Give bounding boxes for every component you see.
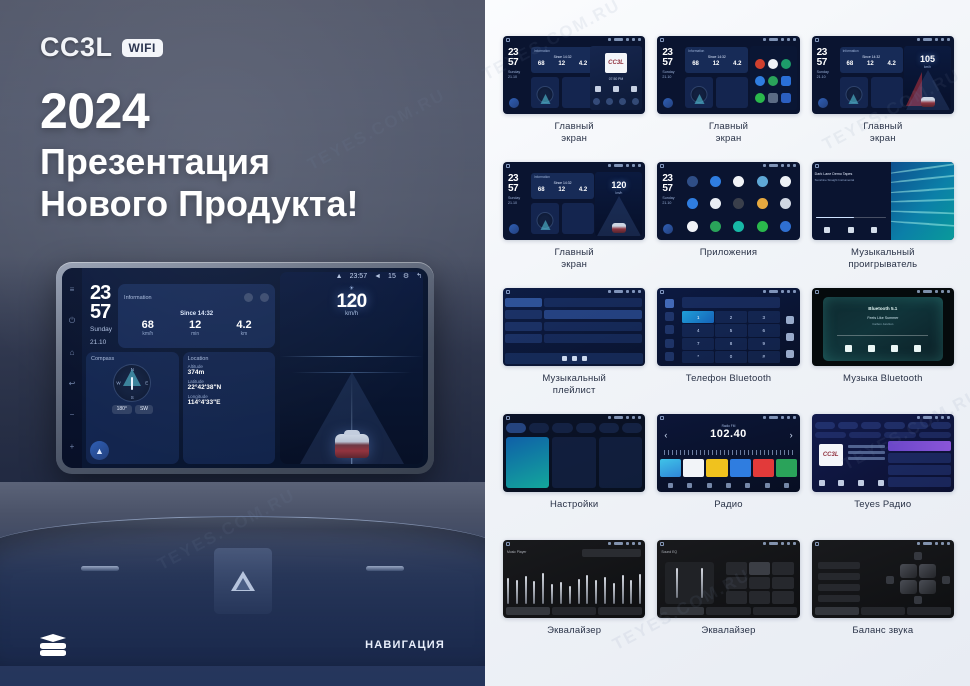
back-icon[interactable]: ↰ bbox=[416, 272, 422, 280]
playback-controls[interactable] bbox=[816, 227, 886, 233]
preset-2 bbox=[683, 459, 704, 477]
teyes-radio-tabs[interactable] bbox=[815, 422, 951, 429]
gallery-caption: Эквалайзер bbox=[701, 625, 755, 637]
equalizer-preset-label: Music Player bbox=[507, 550, 526, 554]
mini-speed-value: 120 bbox=[595, 180, 642, 190]
gallery-caption: Главныйэкран bbox=[555, 121, 594, 145]
track-info: Dark Lane Demo Tapes Sunshine Straight I… bbox=[815, 172, 889, 182]
equalizer-presets[interactable] bbox=[726, 562, 794, 604]
radio-presets[interactable] bbox=[660, 459, 796, 477]
tab-balance bbox=[552, 607, 596, 615]
gallery-caption: Главныйэкран bbox=[555, 247, 594, 271]
gallery-caption: Радио bbox=[714, 499, 742, 511]
app-icon-phone bbox=[768, 76, 778, 86]
card-wifi bbox=[506, 437, 549, 488]
thumbnail-equalizer-simple[interactable]: Sound EQ bbox=[657, 540, 799, 618]
app-icon-radio bbox=[780, 221, 791, 232]
thumb-status-bar bbox=[812, 540, 954, 547]
tab-sound bbox=[753, 607, 797, 615]
mini-info-since: Since 14:32 bbox=[685, 55, 748, 59]
gallery-caption: Телефон Bluetooth bbox=[686, 373, 772, 385]
app-icon-gallery bbox=[780, 198, 791, 209]
thumbnail-bluetooth-phone[interactable]: 1 2 3 4 5 6 7 8 9 * 0 # bbox=[657, 288, 799, 366]
backspace-icon bbox=[786, 333, 794, 341]
hero-panel: ≡ ⏻ ⌂ ↩ − + ▲ 23:57 ◄ 15 ⚙ bbox=[0, 0, 485, 686]
thumbnail-playlist[interactable] bbox=[503, 288, 645, 366]
tab-sound bbox=[907, 607, 951, 615]
app-icon-play bbox=[755, 93, 765, 103]
station-meta bbox=[848, 445, 885, 463]
gallery-caption: Настройки bbox=[550, 499, 598, 511]
mini-info-stats: 68124.2 bbox=[531, 187, 594, 193]
bluetooth-progress[interactable] bbox=[837, 335, 928, 336]
mini-compass bbox=[685, 77, 713, 108]
teyes-radio-filters[interactable] bbox=[815, 432, 951, 438]
app-icon-google bbox=[687, 221, 698, 232]
radio-tuning-scale[interactable] bbox=[664, 450, 792, 455]
mini-clock-day: Sunday21.10 bbox=[662, 70, 674, 79]
dial-key[interactable]: * bbox=[682, 351, 714, 363]
mini-nav-fab bbox=[818, 98, 828, 108]
dial-key[interactable]: 4 bbox=[682, 324, 714, 336]
speaker-rear-right bbox=[919, 580, 936, 594]
thumbnail-music-player[interactable]: Dark Lane Demo Tapes Sunshine Straight I… bbox=[812, 162, 954, 240]
teyes-playback-controls[interactable] bbox=[819, 480, 884, 486]
gallery-item[interactable]: 2357 Sunday21.10 Information Since 14:32… bbox=[657, 36, 799, 156]
tab-eq bbox=[815, 607, 859, 615]
mini-clock-day: Sunday21.10 bbox=[662, 196, 674, 205]
thumb-status-bar bbox=[503, 36, 645, 43]
tab-sound bbox=[529, 423, 549, 433]
preset-5 bbox=[753, 459, 774, 477]
mini-car bbox=[921, 97, 935, 107]
mini-compass bbox=[531, 203, 559, 234]
mini-info-title: Information bbox=[843, 49, 859, 53]
mini-clock-day: Sunday21.10 bbox=[508, 196, 520, 205]
prev-station-icon[interactable]: ‹ bbox=[664, 430, 667, 440]
thumb-status-bar bbox=[657, 162, 799, 169]
mini-app-shortcuts bbox=[750, 46, 797, 110]
bluetooth-track: Feels Like Summer bbox=[823, 316, 943, 320]
wifi-badge: WIFI bbox=[122, 39, 163, 57]
dial-key[interactable]: 0 bbox=[715, 351, 747, 363]
album-art: CC3L bbox=[605, 53, 627, 73]
search-icon bbox=[665, 325, 674, 334]
mini-driving-view: 120 km/h bbox=[595, 172, 642, 236]
gallery-item[interactable]: Music Player Эквалайзер bbox=[503, 540, 645, 660]
mini-info-stats: 68124.2 bbox=[840, 61, 903, 67]
headline-line-2: Нового Продукта! bbox=[40, 183, 460, 225]
app-icon-settings bbox=[781, 76, 791, 86]
thumb-status-bar bbox=[657, 540, 799, 547]
settings-cards[interactable] bbox=[506, 437, 642, 488]
hero-footer: НАВИГАЦИЯ bbox=[40, 634, 445, 656]
app-icon-more bbox=[781, 93, 791, 103]
settings-icon bbox=[665, 352, 674, 361]
headline-line-1: Презентация bbox=[40, 141, 460, 183]
hero-footer-label: НАВИГАЦИЯ bbox=[365, 639, 445, 651]
gallery-caption: Приложения bbox=[700, 247, 758, 259]
mini-compass bbox=[531, 77, 559, 108]
tab-eq bbox=[506, 607, 550, 615]
equalizer-preset-pill[interactable] bbox=[582, 549, 641, 557]
gallery-item[interactable]: 2357 Sunday21.10 Information Since 14:32… bbox=[503, 36, 645, 156]
app-icon-contacts bbox=[710, 198, 721, 209]
status-time: 23:57 bbox=[350, 273, 368, 280]
tab-sound bbox=[598, 607, 642, 615]
mini-info-title: Information bbox=[534, 49, 550, 53]
play-pause-icon bbox=[868, 345, 875, 352]
mini-information-card: Information Since 14:32 68124.2 bbox=[531, 47, 594, 73]
balance-tabs[interactable] bbox=[815, 607, 951, 615]
call-log-icon bbox=[665, 339, 674, 348]
mini-location bbox=[562, 203, 594, 234]
dialpad-icon bbox=[665, 299, 674, 308]
app-icon-maps bbox=[781, 59, 791, 69]
tab-more bbox=[622, 423, 642, 433]
mini-nav-fab bbox=[509, 98, 519, 108]
bluetooth-now-playing-card: Bluetooth 5.1 Feels Like Summer Carbon J… bbox=[823, 297, 943, 361]
tab-display bbox=[552, 423, 572, 433]
playlist-player-bar[interactable] bbox=[505, 353, 643, 364]
gallery-caption: Эквалайзер bbox=[547, 625, 601, 637]
thumbnail-home-speed[interactable]: 2357 Sunday21.10 Information Since 14:32… bbox=[503, 162, 645, 240]
thumb-status-bar bbox=[503, 288, 645, 295]
gallery-item[interactable]: 1 2 3 4 5 6 7 8 9 * 0 # bbox=[657, 288, 799, 408]
app-grid bbox=[681, 171, 796, 237]
thumb-status-bar bbox=[657, 288, 799, 295]
media-time: 07:50 PM bbox=[590, 77, 643, 81]
mini-info-since: Since 14:32 bbox=[531, 181, 594, 185]
layers-icon bbox=[40, 634, 66, 656]
status-volume: 15 bbox=[388, 273, 396, 280]
mini-nav-fab bbox=[509, 224, 519, 234]
mini-info-title: Information bbox=[688, 49, 704, 53]
phone-nav-rail[interactable] bbox=[659, 297, 679, 363]
balance-right-icon[interactable] bbox=[942, 576, 950, 584]
mini-clock: 2357 bbox=[508, 174, 518, 193]
mini-location bbox=[716, 77, 748, 108]
mini-clock: 2357 bbox=[662, 174, 672, 193]
thumbnail-home-apps[interactable]: 2357 Sunday21.10 Information Since 14:32… bbox=[657, 36, 799, 114]
settings-tabs[interactable] bbox=[506, 423, 642, 433]
mini-info-since: Since 14:32 bbox=[840, 55, 903, 59]
app-icon-play-store bbox=[757, 221, 768, 232]
mini-info-title: Information bbox=[534, 175, 550, 179]
tab-about bbox=[599, 423, 619, 433]
gallery-item[interactable]: Настройки bbox=[503, 414, 645, 534]
mini-driving-view: 105 km/h bbox=[904, 46, 951, 110]
media-extra-controls bbox=[590, 98, 643, 105]
bluetooth-controls[interactable] bbox=[845, 345, 922, 352]
equalizer-tabs[interactable] bbox=[660, 607, 796, 615]
thumb-status-bar bbox=[503, 162, 645, 169]
preset-3 bbox=[706, 459, 727, 477]
dial-key[interactable]: 8 bbox=[715, 338, 747, 350]
app-icon-music bbox=[755, 76, 765, 86]
tab-eq bbox=[660, 607, 704, 615]
mini-speed-unit: km/h bbox=[904, 65, 951, 69]
card-carplay bbox=[552, 437, 595, 488]
thumbnail-teyes-radio[interactable]: CC3L bbox=[812, 414, 954, 492]
dial-key[interactable]: 5 bbox=[715, 324, 747, 336]
contacts-icon bbox=[665, 312, 674, 321]
bluetooth-title: Bluetooth 5.1 bbox=[823, 306, 943, 311]
thumbnail-radio[interactable]: Radio FM 102.40 ‹ › bbox=[657, 414, 799, 492]
dial-key[interactable]: 7 bbox=[682, 338, 714, 350]
dial-key[interactable]: # bbox=[748, 351, 780, 363]
call-icon bbox=[786, 350, 794, 358]
equalizer-title: Sound EQ bbox=[661, 550, 677, 554]
mini-speed-unit: km/h bbox=[595, 191, 642, 195]
thumb-status-bar bbox=[657, 414, 799, 421]
app-icon-bluetooth bbox=[710, 176, 721, 187]
mini-media-card: CC3L 07:50 PM bbox=[590, 46, 643, 110]
app-icon-radio bbox=[755, 59, 765, 69]
dial-key[interactable]: 2 bbox=[715, 311, 747, 323]
thumb-status-bar bbox=[812, 288, 954, 295]
gallery-caption: Главныйэкран bbox=[709, 121, 748, 145]
station-list[interactable] bbox=[888, 441, 951, 489]
mini-clock: 2357 bbox=[817, 48, 827, 67]
thumbnail-home-media[interactable]: 2357 Sunday21.10 Information Since 14:32… bbox=[503, 36, 645, 114]
station-art: CC3L bbox=[819, 444, 843, 466]
thumb-status-bar bbox=[812, 36, 954, 43]
mini-clock: 2357 bbox=[662, 48, 672, 67]
preset-4 bbox=[730, 459, 751, 477]
equalizer-faders[interactable] bbox=[665, 562, 713, 604]
balance-up-icon[interactable] bbox=[914, 552, 922, 560]
dial-key[interactable]: 9 bbox=[748, 338, 780, 350]
tab-balance bbox=[861, 607, 905, 615]
mini-clock: 2357 bbox=[508, 48, 518, 67]
prev-icon bbox=[845, 345, 852, 352]
headline-year: 2024 bbox=[40, 86, 460, 137]
thumbnail-bluetooth-music[interactable]: Bluetooth 5.1 Feels Like Summer Carbon J… bbox=[812, 288, 954, 366]
gallery-item[interactable]: Музыкальныйплейлист bbox=[503, 288, 645, 408]
tab-system bbox=[576, 423, 596, 433]
stop-icon bbox=[891, 345, 898, 352]
mini-clock-day: Sunday21.10 bbox=[508, 70, 520, 79]
app-icon-music-player bbox=[733, 221, 744, 232]
gallery-caption: Баланс звука bbox=[852, 625, 913, 637]
app-icon-chrome bbox=[687, 198, 698, 209]
phone-actions[interactable] bbox=[783, 311, 798, 363]
gallery-caption: Teyes Радио bbox=[854, 499, 911, 511]
media-controls bbox=[590, 86, 643, 92]
tab-wifi bbox=[506, 423, 526, 433]
thumb-status-bar bbox=[503, 414, 645, 421]
mini-nav-fab bbox=[663, 98, 673, 108]
presentation-page: ≡ ⏻ ⌂ ↩ − + ▲ 23:57 ◄ 15 ⚙ bbox=[0, 0, 970, 686]
app-icon-files bbox=[757, 198, 768, 209]
speaker-grid[interactable] bbox=[900, 564, 936, 594]
app-icon-link bbox=[687, 176, 698, 187]
next-icon bbox=[914, 345, 921, 352]
radio-readout: Radio FM 102.40 bbox=[657, 424, 799, 440]
thumb-status-bar bbox=[812, 414, 954, 421]
gallery-item[interactable]: 2357 Sunday21.10 Information Since 14:32… bbox=[812, 36, 954, 156]
mini-info-stats: 68124.2 bbox=[531, 61, 594, 67]
app-icon-browser bbox=[768, 59, 778, 69]
gear-icon[interactable]: ⚙ bbox=[403, 272, 409, 280]
app-icon-grid bbox=[768, 93, 778, 103]
app-icon-dvr bbox=[733, 198, 744, 209]
app-icon-bluetooth-music bbox=[733, 176, 744, 187]
mini-back-fab bbox=[663, 224, 673, 234]
gallery-item[interactable]: Bluetooth 5.1 Feels Like Summer Carbon J… bbox=[812, 288, 954, 408]
wifi-icon: ▲ bbox=[336, 273, 343, 280]
favourite-icon bbox=[786, 316, 794, 324]
dial-key[interactable]: 6 bbox=[748, 324, 780, 336]
mini-compass bbox=[840, 77, 868, 108]
equalizer-header: Sound EQ bbox=[661, 549, 795, 557]
dial-key[interactable]: 3 bbox=[748, 311, 780, 323]
gallery-item[interactable]: Баланс звука bbox=[812, 540, 954, 660]
track-title: Dark Lane Demo Tapes bbox=[815, 172, 889, 176]
dial-number-field[interactable] bbox=[682, 297, 779, 308]
next-station-icon[interactable]: › bbox=[790, 430, 793, 440]
equalizer-tabs[interactable] bbox=[506, 607, 642, 615]
app-icon-maps bbox=[710, 221, 721, 232]
gallery-item[interactable]: Dark Lane Demo Tapes Sunshine Straight I… bbox=[812, 162, 954, 282]
app-icon-camera bbox=[780, 176, 791, 187]
status-bar: ▲ 23:57 ◄ 15 ⚙ ↰ bbox=[336, 272, 422, 280]
gallery-item[interactable]: 2357 Sunday21.10 bbox=[657, 162, 799, 282]
track-artist: Sunshine Straight Instrumental bbox=[815, 178, 889, 182]
gallery-caption: Музыкальныйпроигрыватель bbox=[848, 247, 917, 271]
balance-left-icon[interactable] bbox=[886, 576, 894, 584]
card-more bbox=[599, 437, 642, 488]
equalizer-header[interactable]: Music Player bbox=[507, 549, 641, 557]
thumbnail-settings[interactable] bbox=[503, 414, 645, 492]
mini-info-stats: 68124.2 bbox=[685, 61, 748, 67]
gallery-item[interactable]: CC3L Teyes Радио bbox=[812, 414, 954, 534]
playlist-tracks[interactable] bbox=[544, 298, 642, 352]
product-logo: CC3L WIFI bbox=[40, 32, 163, 63]
thumbnail-home-drive[interactable]: 2357 Sunday21.10 Information Since 14:32… bbox=[812, 36, 954, 114]
gallery-item[interactable]: 2357 Sunday21.10 Information Since 14:32… bbox=[503, 162, 645, 282]
dial-key[interactable]: 1 bbox=[682, 311, 714, 323]
preset-6 bbox=[776, 459, 797, 477]
speaker-front-left bbox=[900, 564, 917, 578]
visualizer-panel bbox=[891, 162, 954, 240]
gallery-caption: Главныйэкран bbox=[863, 121, 902, 145]
volume-icon: ◄ bbox=[374, 273, 381, 280]
preset-1 bbox=[660, 459, 681, 477]
radio-toolbar[interactable] bbox=[660, 481, 796, 489]
mini-information-card: Information Since 14:32 68124.2 bbox=[840, 47, 903, 73]
balance-presets[interactable] bbox=[818, 560, 861, 604]
mini-speed-value: 105 bbox=[904, 54, 951, 64]
thumb-status-bar bbox=[657, 36, 799, 43]
equalizer-band-sliders[interactable] bbox=[507, 562, 641, 604]
mini-information-card: Information Since 14:32 68124.2 bbox=[685, 47, 748, 73]
app-icon-calculator bbox=[757, 176, 768, 187]
mini-information-card: Information Since 14:32 68124.2 bbox=[531, 173, 594, 199]
bluetooth-artist: Carbon Junction bbox=[823, 322, 943, 326]
gallery-caption: Музыкальныйплейлист bbox=[542, 373, 606, 397]
thumbnail-equalizer-bands[interactable]: Music Player bbox=[503, 540, 645, 618]
gallery-item[interactable]: Sound EQ Эквалайзер bbox=[657, 540, 799, 660]
gallery-grid: 2357 Sunday21.10 Information Since 14:32… bbox=[503, 36, 954, 660]
mini-info-since: Since 14:32 bbox=[531, 55, 594, 59]
tab-balance bbox=[706, 607, 750, 615]
progress-bar[interactable] bbox=[816, 217, 886, 219]
gallery-caption: Музыка Bluetooth bbox=[843, 373, 923, 385]
screenshot-gallery: 2357 Sunday21.10 Information Since 14:32… bbox=[485, 0, 970, 686]
speaker-rear-left bbox=[900, 580, 917, 594]
thumb-status-bar bbox=[503, 540, 645, 547]
mini-clock-day: Sunday21.10 bbox=[817, 70, 829, 79]
mini-location bbox=[871, 77, 903, 108]
thumbnail-app-drawer[interactable]: 2357 Sunday21.10 bbox=[657, 162, 799, 240]
radio-frequency: 102.40 bbox=[657, 428, 799, 440]
mini-car bbox=[612, 223, 626, 233]
logo-text: CC3L bbox=[40, 32, 113, 63]
balance-down-icon[interactable] bbox=[914, 596, 922, 604]
thumbnail-sound-balance[interactable] bbox=[812, 540, 954, 618]
dial-pad[interactable]: 1 2 3 4 5 6 7 8 9 * 0 # bbox=[682, 311, 779, 363]
speaker-front-right bbox=[919, 564, 936, 578]
headline-block: 2024 Презентация Нового Продукта! bbox=[40, 86, 460, 225]
gallery-item[interactable]: Radio FM 102.40 ‹ › bbox=[657, 414, 799, 534]
